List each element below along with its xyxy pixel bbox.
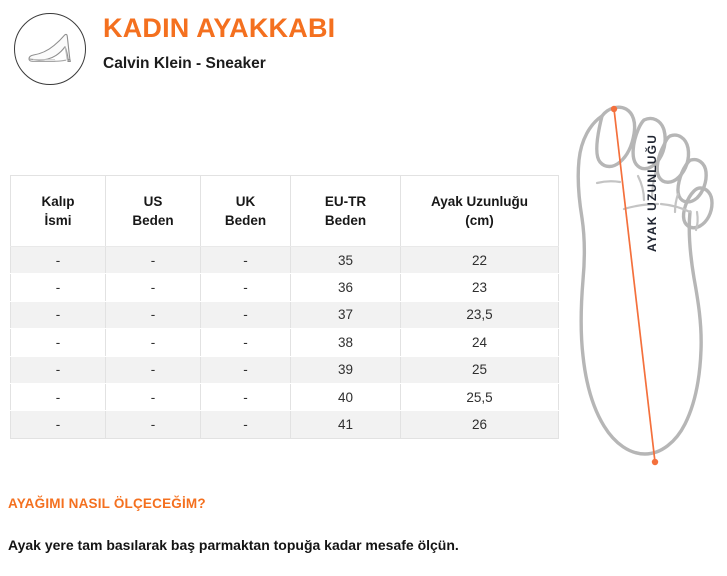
table-row: - - - 37 23,5	[11, 301, 559, 328]
cell-uk-beden: -	[201, 329, 291, 356]
cell-us-beden: -	[106, 247, 201, 274]
header-line-1: US	[144, 194, 163, 209]
cell-kalip-ismi: -	[11, 301, 106, 328]
cell-kalip-ismi: -	[11, 247, 106, 274]
cell-uk-beden: -	[201, 356, 291, 383]
cell-ayak-uzunlugu: 25	[401, 356, 559, 383]
page-subtitle: Calvin Klein - Sneaker	[103, 54, 335, 74]
cell-eu-tr-beden: 40	[291, 383, 401, 410]
cell-kalip-ismi: -	[11, 274, 106, 301]
cell-kalip-ismi: -	[11, 329, 106, 356]
column-header-eu-tr-beden: EU-TR Beden	[291, 176, 401, 247]
cell-ayak-uzunlugu: 22	[401, 247, 559, 274]
cell-ayak-uzunlugu: 23	[401, 274, 559, 301]
cell-eu-tr-beden: 35	[291, 247, 401, 274]
cell-us-beden: -	[106, 411, 201, 438]
column-header-ayak-uzunlugu: Ayak Uzunluğu (cm)	[401, 176, 559, 247]
cell-kalip-ismi: -	[11, 383, 106, 410]
cell-us-beden: -	[106, 356, 201, 383]
header-line-2: İsmi	[44, 213, 71, 228]
page-title: KADIN AYAKKABI	[103, 12, 335, 44]
high-heel-shoe-icon	[14, 13, 86, 85]
header-line-1: Kalıp	[41, 194, 74, 209]
cell-eu-tr-beden: 37	[291, 301, 401, 328]
header-line-1: EU-TR	[325, 194, 366, 209]
cell-eu-tr-beden: 38	[291, 329, 401, 356]
header-line-2: Beden	[225, 213, 266, 228]
size-chart-table: Kalıp İsmi US Beden UK Beden EU-TR Beden…	[10, 175, 559, 439]
header-line-2: Beden	[132, 213, 173, 228]
cell-uk-beden: -	[201, 383, 291, 410]
table-row: - - - 39 25	[11, 356, 559, 383]
instructions-heading: AYAĞIMI NASIL ÖLÇECEĞİM?	[8, 496, 568, 511]
cell-kalip-ismi: -	[11, 411, 106, 438]
foot-sole-diagram	[560, 92, 727, 482]
cell-kalip-ismi: -	[11, 356, 106, 383]
cell-eu-tr-beden: 36	[291, 274, 401, 301]
column-header-kalip-ismi: Kalıp İsmi	[11, 176, 106, 247]
cell-uk-beden: -	[201, 274, 291, 301]
foot-length-label: AYAK UZUNLUĞU	[645, 236, 659, 252]
header-line-2: Beden	[325, 213, 366, 228]
table-row: - - - 38 24	[11, 329, 559, 356]
cell-uk-beden: -	[201, 411, 291, 438]
cell-ayak-uzunlugu: 23,5	[401, 301, 559, 328]
header-line-2: (cm)	[465, 213, 494, 228]
cell-us-beden: -	[106, 301, 201, 328]
cell-us-beden: -	[106, 329, 201, 356]
column-header-uk-beden: UK Beden	[201, 176, 291, 247]
table-row: - - - 35 22	[11, 247, 559, 274]
table-row: - - - 36 23	[11, 274, 559, 301]
header-line-1: UK	[236, 194, 256, 209]
cell-uk-beden: -	[201, 247, 291, 274]
cell-us-beden: -	[106, 383, 201, 410]
table-row: - - - 40 25,5	[11, 383, 559, 410]
table-row: - - - 41 26	[11, 411, 559, 438]
cell-ayak-uzunlugu: 26	[401, 411, 559, 438]
page-header: KADIN AYAKKABI Calvin Klein - Sneaker	[0, 0, 560, 100]
table-header-row: Kalıp İsmi US Beden UK Beden EU-TR Beden…	[11, 176, 559, 247]
instructions-text: Ayak yere tam basılarak baş parmaktan to…	[8, 537, 568, 553]
cell-ayak-uzunlugu: 24	[401, 329, 559, 356]
cell-ayak-uzunlugu: 25,5	[401, 383, 559, 410]
title-block: KADIN AYAKKABI Calvin Klein - Sneaker	[103, 12, 335, 74]
cell-us-beden: -	[106, 274, 201, 301]
cell-eu-tr-beden: 41	[291, 411, 401, 438]
cell-eu-tr-beden: 39	[291, 356, 401, 383]
header-line-1: Ayak Uzunluğu	[431, 194, 528, 209]
measuring-instructions: AYAĞIMI NASIL ÖLÇECEĞİM? Ayak yere tam b…	[8, 496, 568, 553]
column-header-us-beden: US Beden	[106, 176, 201, 247]
cell-uk-beden: -	[201, 301, 291, 328]
